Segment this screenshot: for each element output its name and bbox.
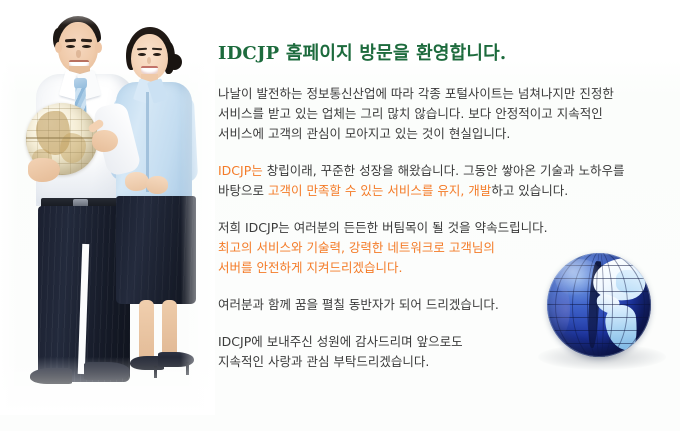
business-couple-photo	[0, 0, 215, 410]
text-line: 바탕으로 고객이 만족할 수 있는 서비스를 유지, 개발하고 있습니다.	[218, 181, 668, 201]
man-right-ear	[95, 42, 102, 53]
accent-text-run: 고객이 만족할 수 있는 서비스를 유지, 개발	[268, 183, 491, 198]
text-line: 저희 IDCJP는 여러분의 든든한 버팀목이 될 것을 약속드립니다.	[218, 218, 668, 238]
woman-hair-bun	[167, 54, 182, 70]
woman-left-eye	[138, 53, 146, 56]
text-line: 서비스를 받고 있는 업체는 그리 많치 않습니다. 보다 안정적이고 지속적인	[218, 104, 668, 124]
text-run: 지속적인 사랑과 관심 부탁드리겠습니다.	[218, 354, 429, 369]
text-run: 저희 IDCJP는 여러분의 든든한 버팀목이 될 것을 약속드립니다.	[218, 220, 548, 235]
text-run: 서비스를 받고 있는 업체는 그리 많치 않습니다. 보다 안정적이고 지속적인	[218, 106, 603, 121]
man-nose	[76, 50, 81, 58]
globe-rim-light	[547, 253, 651, 357]
man-pointing-hand	[92, 130, 118, 152]
woman-navy-skirt	[116, 196, 196, 304]
man-right-shoe	[84, 362, 130, 380]
globe-sphere	[547, 253, 651, 357]
antique-globe-equator	[26, 137, 98, 139]
man-left-eye	[66, 45, 75, 48]
text-run: 하고 있습니다.	[491, 183, 568, 198]
blue-globe-graphic	[547, 253, 651, 357]
accent-text-run: IDCJP는	[218, 163, 263, 178]
text-run: 바탕으로	[218, 183, 268, 198]
man-left-ear	[55, 42, 62, 53]
woman-right-hand	[146, 176, 168, 194]
woman-left-hand	[125, 172, 149, 191]
welcome-banner: IDCJP 홈페이지 방문을 환영합니다. 나날이 발전하는 정보통신산업에 따…	[0, 0, 680, 431]
text-line: 나날이 발전하는 정보통신산업에 따라 각종 포털사이트는 넘쳐나지만 진정한	[218, 84, 668, 104]
page-title: IDCJP 홈페이지 방문을 환영합니다.	[218, 39, 506, 65]
paragraph-intro: 나날이 발전하는 정보통신산업에 따라 각종 포털사이트는 넘쳐나지만 진정한서…	[218, 84, 668, 144]
text-run: 창립이래, 꾸준한 성장을 해왔습니다. 그동안 쌓아온 기술과 노하우를	[263, 163, 625, 178]
text-line: 서비스에 고객의 관심이 모아지고 있는 것이 현실입니다.	[218, 124, 668, 144]
woman-nose	[147, 57, 151, 64]
paragraph-growth: IDCJP는 창립이래, 꾸준한 성장을 해왔습니다. 그동안 쌓아온 기술과 …	[218, 161, 668, 201]
accent-text-run: 서버를 안전하게 지켜드리겠습니다.	[218, 260, 402, 275]
text-run: IDCJP에 보내주신 성원에 감사드리며 앞으로도	[218, 334, 463, 349]
woman-left-shoe-heel	[154, 366, 157, 378]
text-run: 여러분과 함께 꿈을 펼칠 동반자가 되어 드리겠습니다.	[218, 297, 499, 312]
text-run: 서비스에 고객의 관심이 모아지고 있는 것이 현실입니다.	[218, 126, 510, 141]
accent-text-run: 최고의 서비스와 기술력, 강력한 네트워크로 고객님의	[218, 240, 495, 255]
woman-right-shoe-heel	[186, 362, 189, 375]
text-line: IDCJP는 창립이래, 꾸준한 성장을 해왔습니다. 그동안 쌓아온 기술과 …	[218, 161, 668, 181]
woman-right-eye	[153, 53, 161, 56]
man-left-shoe	[30, 368, 72, 384]
woman-left-leg	[139, 300, 154, 362]
man-right-eye	[82, 45, 91, 48]
text-run: 나날이 발전하는 정보통신산업에 따라 각종 포털사이트는 넘쳐나지만 진정한	[218, 86, 614, 101]
